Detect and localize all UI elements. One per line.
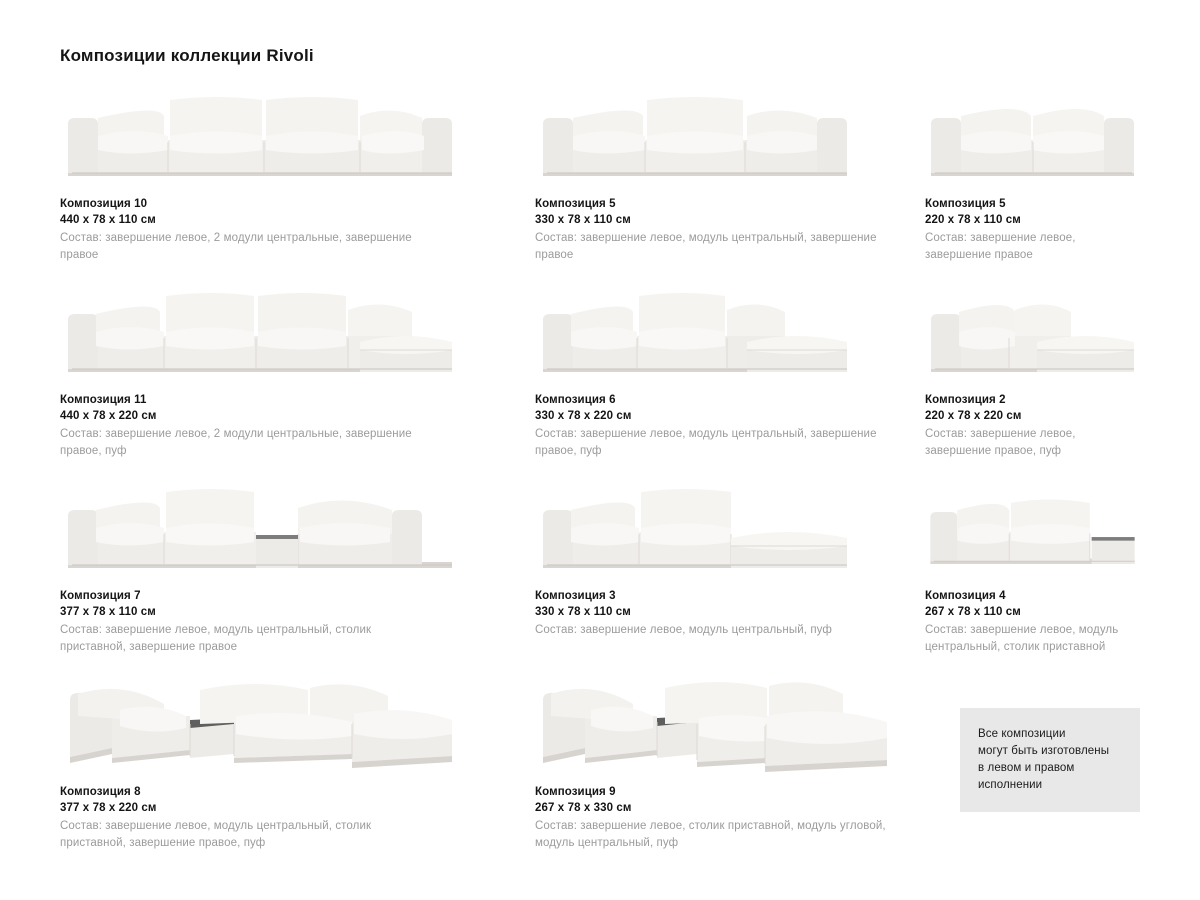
composition-name: Композиция 3 bbox=[535, 588, 925, 604]
composition-card-comp-9[interactable]: Композиция 9 267 x 78 x 330 см Состав: з… bbox=[535, 676, 935, 886]
composition-card-comp-5-330[interactable]: Композиция 5 330 x 78 x 110 см Состав: з… bbox=[535, 88, 925, 284]
sofa-image bbox=[925, 284, 1140, 382]
grid-row: Композиция 7 377 x 78 x 110 см Состав: з… bbox=[60, 480, 1140, 676]
composition-name: Композиция 10 bbox=[60, 196, 535, 212]
grid-row: Композиция 11 440 x 78 x 220 см Состав: … bbox=[60, 284, 1140, 480]
composition-dimensions: 267 x 78 x 110 см bbox=[925, 604, 1140, 620]
sofa-image bbox=[925, 480, 1140, 578]
composition-description: Состав: завершение левое, модуль централ… bbox=[60, 818, 440, 852]
sofa-image bbox=[535, 284, 925, 382]
composition-name: Композиция 2 bbox=[925, 392, 1140, 408]
composition-caption: Композиция 5 330 x 78 x 110 см Состав: з… bbox=[535, 196, 925, 264]
composition-card-comp-7[interactable]: Композиция 7 377 x 78 x 110 см Состав: з… bbox=[60, 480, 535, 676]
composition-description: Состав: завершение левое, завершение пра… bbox=[925, 230, 1140, 264]
sofa-front-3module-pouf-icon bbox=[535, 284, 855, 382]
composition-name: Композиция 5 bbox=[925, 196, 1140, 212]
composition-name: Композиция 7 bbox=[60, 588, 535, 604]
composition-description: Состав: завершение левое, 2 модули центр… bbox=[60, 426, 440, 460]
sofa-image bbox=[535, 480, 925, 578]
composition-card-comp-11[interactable]: Композиция 11 440 x 78 x 220 см Состав: … bbox=[60, 284, 535, 480]
composition-dimensions: 330 x 78 x 110 см bbox=[535, 212, 925, 228]
sofa-front-2module-table-icon bbox=[925, 480, 1140, 578]
composition-description: Состав: завершение левое, модуль централ… bbox=[925, 622, 1140, 656]
composition-dimensions: 440 x 78 x 110 см bbox=[60, 212, 535, 228]
note-line-2: могут быть изготовлены bbox=[978, 743, 1124, 760]
composition-name: Композиция 8 bbox=[60, 784, 535, 800]
composition-card-comp-2[interactable]: Композиция 2 220 x 78 x 220 см Состав: з… bbox=[925, 284, 1140, 480]
page-title: Композиции коллекции Rivoli bbox=[60, 46, 314, 66]
sofa-front-3module-table-icon bbox=[60, 480, 460, 578]
sofa-perspective-corner-pouf-icon bbox=[535, 664, 895, 774]
composition-description: Состав: завершение левое, завершение пра… bbox=[925, 426, 1140, 460]
composition-caption: Композиция 6 330 x 78 x 220 см Состав: з… bbox=[535, 392, 925, 460]
composition-dimensions: 377 x 78 x 110 см bbox=[60, 604, 535, 620]
sofa-front-2module-icon bbox=[925, 88, 1140, 186]
composition-dimensions: 220 x 78 x 110 см bbox=[925, 212, 1140, 228]
composition-card-comp-3[interactable]: Композиция 3 330 x 78 x 110 см Состав: з… bbox=[535, 480, 925, 676]
sofa-front-3module-icon bbox=[535, 88, 855, 186]
composition-description: Состав: завершение левое, модуль централ… bbox=[535, 622, 887, 639]
sofa-image bbox=[60, 284, 535, 382]
composition-name: Композиция 11 bbox=[60, 392, 535, 408]
composition-description: Состав: завершение левое, 2 модули центр… bbox=[60, 230, 440, 264]
composition-caption: Композиция 3 330 x 78 x 110 см Состав: з… bbox=[535, 588, 925, 639]
composition-dimensions: 330 x 78 x 110 см bbox=[535, 604, 925, 620]
note-line-3: в левом и правом bbox=[978, 760, 1124, 777]
composition-caption: Композиция 8 377 x 78 x 220 см Состав: з… bbox=[60, 784, 535, 852]
composition-name: Композиция 5 bbox=[535, 196, 925, 212]
composition-dimensions: 220 x 78 x 220 см bbox=[925, 408, 1140, 424]
composition-description: Состав: завершение левое, модуль централ… bbox=[535, 230, 887, 264]
composition-name: Композиция 4 bbox=[925, 588, 1140, 604]
composition-caption: Композиция 10 440 x 78 x 110 см Состав: … bbox=[60, 196, 535, 264]
sofa-perspective-corner-table-pouf-icon bbox=[60, 664, 460, 774]
composition-card-comp-5-220[interactable]: Композиция 5 220 x 78 x 110 см Состав: з… bbox=[925, 88, 1140, 284]
composition-card-comp-6[interactable]: Композиция 6 330 x 78 x 220 см Состав: з… bbox=[535, 284, 925, 480]
grid-row: Композиция 10 440 x 78 x 110 см Состав: … bbox=[60, 88, 1140, 284]
sofa-image bbox=[925, 88, 1140, 186]
composition-description: Состав: завершение левое, столик пристав… bbox=[535, 818, 887, 852]
sofa-image bbox=[60, 88, 535, 186]
composition-caption: Композиция 5 220 x 78 x 110 см Состав: з… bbox=[925, 196, 1140, 264]
composition-caption: Композиция 9 267 x 78 x 330 см Состав: з… bbox=[535, 784, 935, 852]
composition-card-comp-4[interactable]: Композиция 4 267 x 78 x 110 см Состав: з… bbox=[925, 480, 1140, 676]
composition-dimensions: 267 x 78 x 330 см bbox=[535, 800, 935, 816]
sofa-image bbox=[60, 676, 535, 774]
composition-description: Состав: завершение левое, модуль централ… bbox=[535, 426, 887, 460]
sofa-front-2module-pouf-icon bbox=[535, 480, 855, 578]
sofa-front-2module-pouf-icon bbox=[925, 284, 1140, 382]
composition-card-comp-8[interactable]: Композиция 8 377 x 78 x 220 см Состав: з… bbox=[60, 676, 535, 886]
composition-card-comp-10[interactable]: Композиция 10 440 x 78 x 110 см Состав: … bbox=[60, 88, 535, 284]
composition-description: Состав: завершение левое, модуль централ… bbox=[60, 622, 440, 656]
note-line-1: Все композиции bbox=[978, 726, 1124, 743]
composition-caption: Композиция 7 377 x 78 x 110 см Состав: з… bbox=[60, 588, 535, 656]
composition-name: Композиция 9 bbox=[535, 784, 935, 800]
sofa-image bbox=[535, 676, 935, 774]
sofa-front-4module-icon bbox=[60, 88, 460, 186]
catalog-page: Композиции коллекции Rivoli bbox=[0, 0, 1200, 900]
composition-dimensions: 330 x 78 x 220 см bbox=[535, 408, 925, 424]
sofa-image bbox=[535, 88, 925, 186]
composition-caption: Композиция 4 267 x 78 x 110 см Состав: з… bbox=[925, 588, 1140, 656]
note-line-4: исполнении bbox=[978, 777, 1124, 794]
composition-dimensions: 377 x 78 x 220 см bbox=[60, 800, 535, 816]
composition-caption: Композиция 11 440 x 78 x 220 см Состав: … bbox=[60, 392, 535, 460]
sofa-front-4module-pouf-icon bbox=[60, 284, 460, 382]
production-note-box: Все композиции могут быть изготовлены в … bbox=[960, 708, 1140, 812]
sofa-image bbox=[60, 480, 535, 578]
composition-dimensions: 440 x 78 x 220 см bbox=[60, 408, 535, 424]
composition-caption: Композиция 2 220 x 78 x 220 см Состав: з… bbox=[925, 392, 1140, 460]
composition-name: Композиция 6 bbox=[535, 392, 925, 408]
